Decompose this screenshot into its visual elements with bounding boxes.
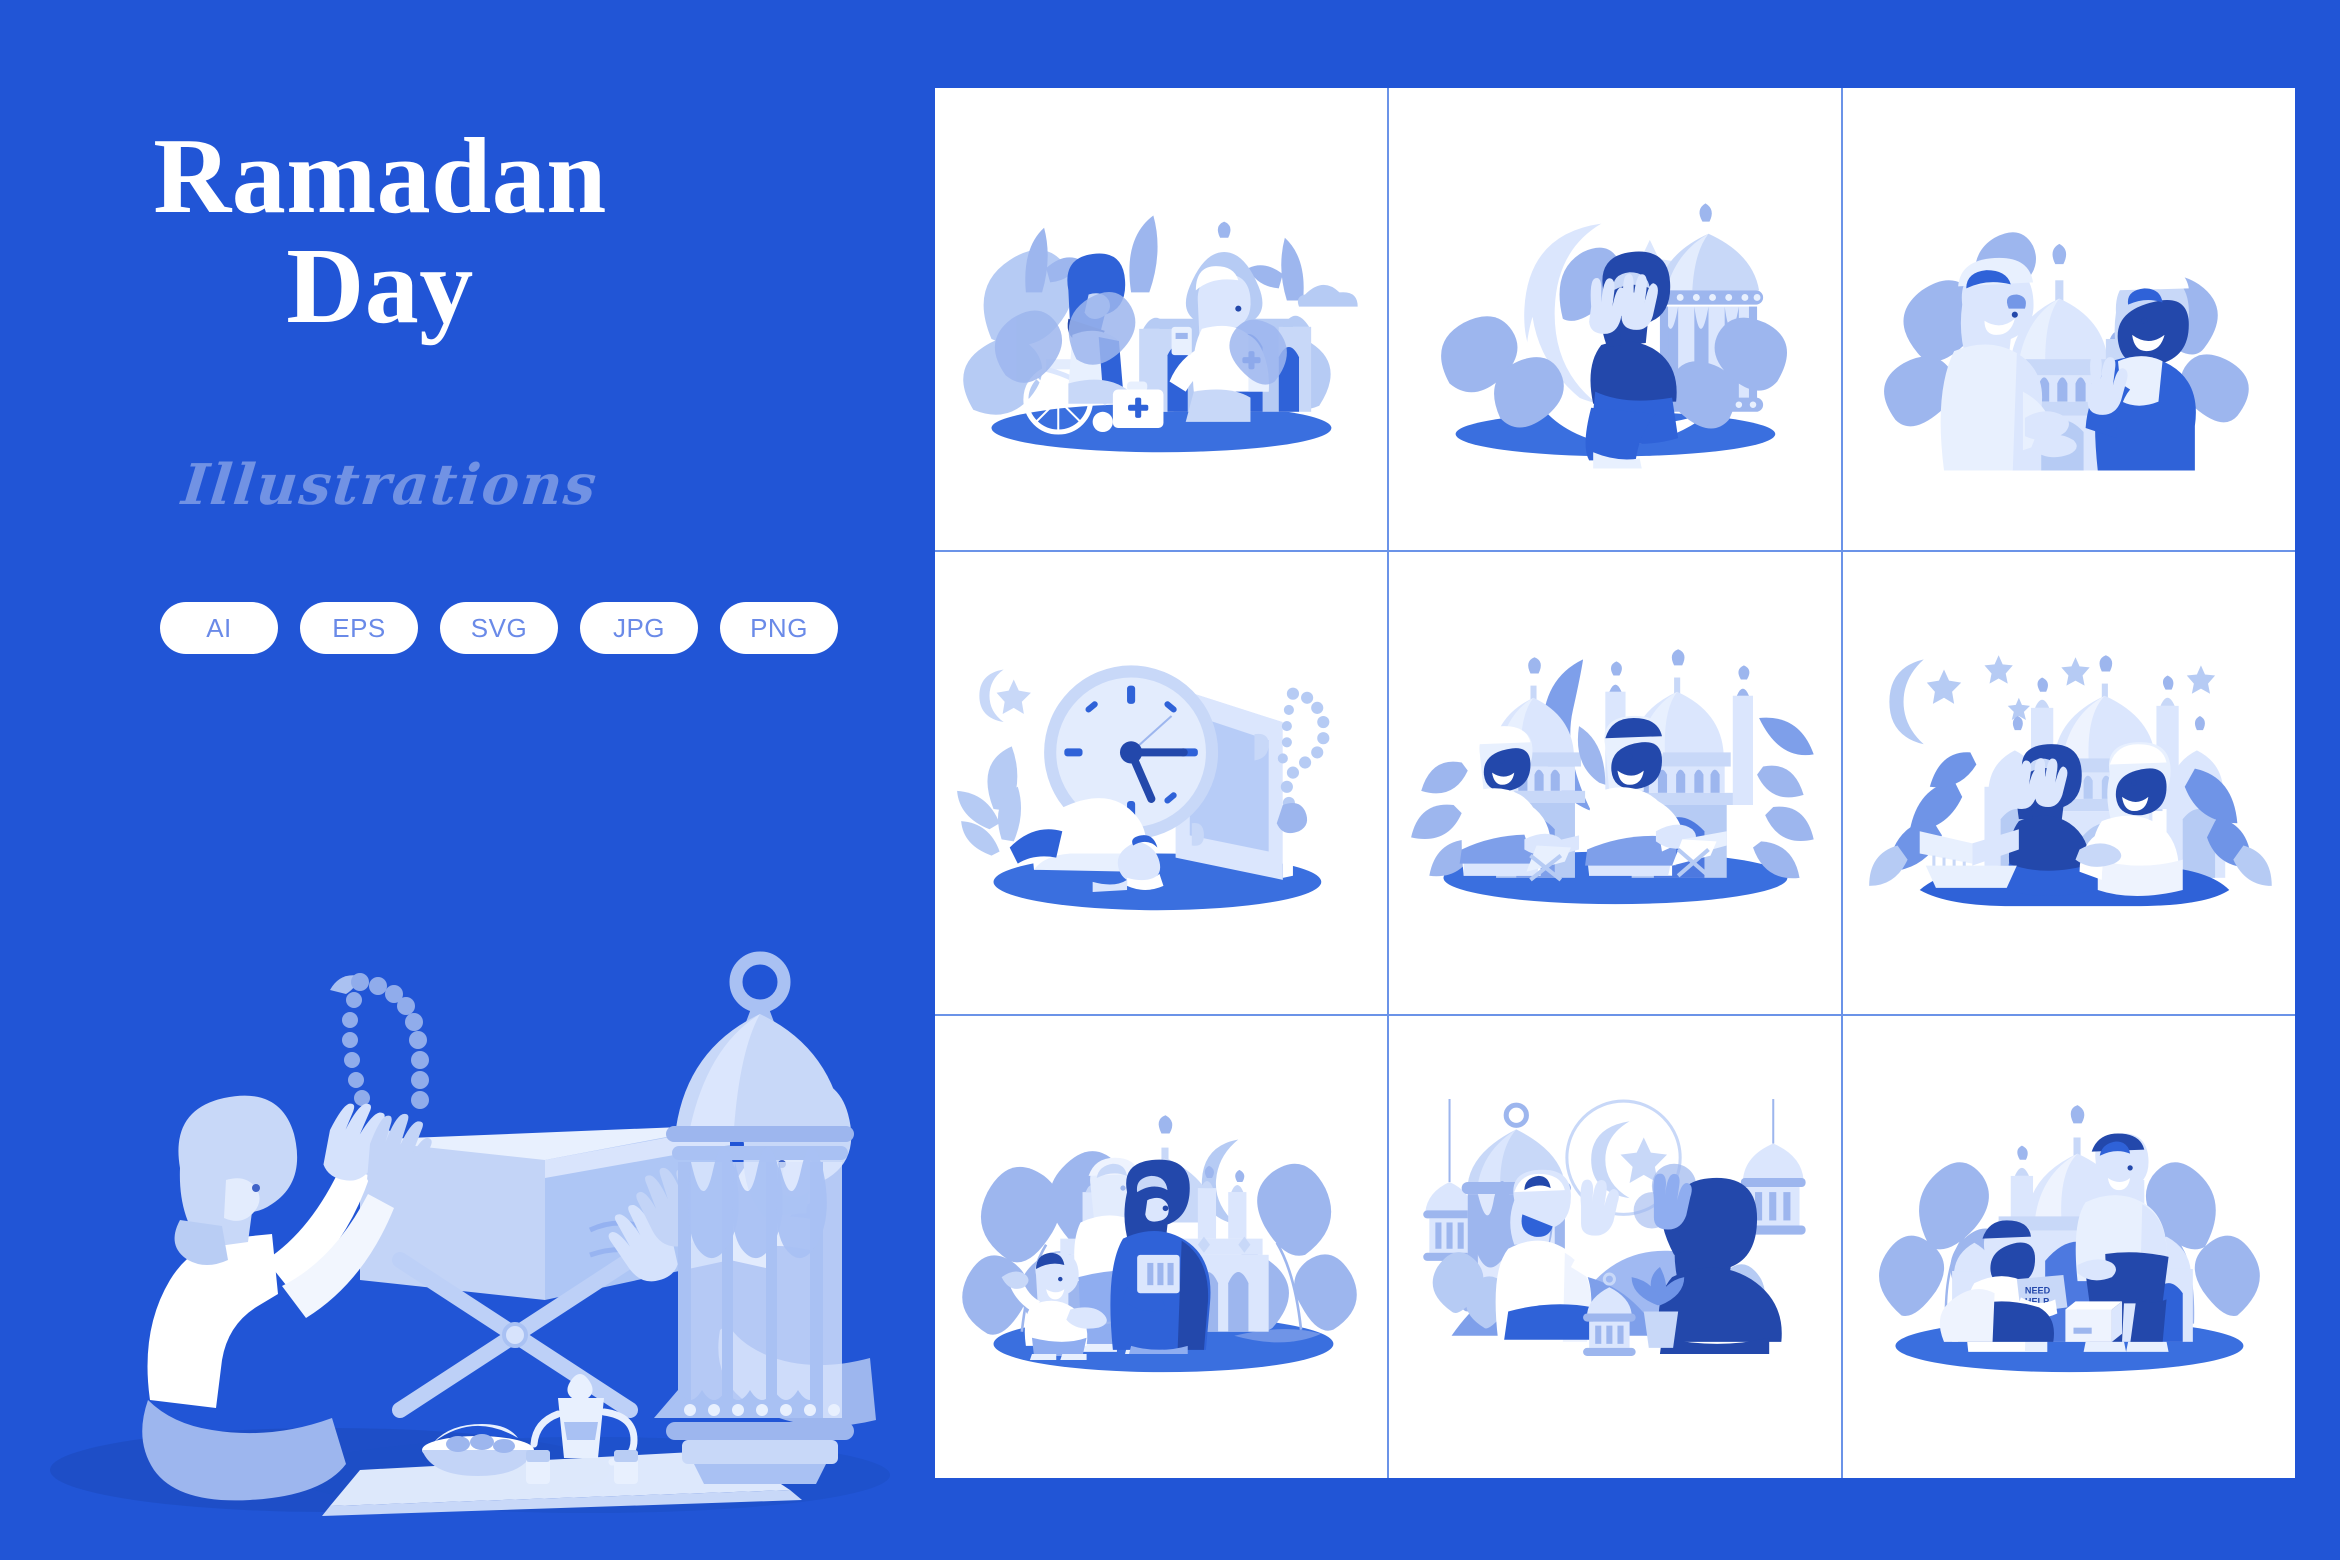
eid-greeting-illustration — [1857, 167, 2282, 470]
grid-cell-tarawih-prayer-lanterns[interactable] — [1389, 1016, 1841, 1478]
grid-cell-woman-praying-on-crescent[interactable] — [1389, 88, 1841, 550]
leaves — [957, 747, 1021, 856]
family-going-to-mosque-illustration — [949, 1095, 1374, 1398]
charity-medical-aid-illustration — [949, 167, 1374, 470]
men-reading-quran-illustration — [1403, 631, 1828, 934]
grid-cell-couple-praying-night[interactable] — [1843, 552, 2295, 1014]
poster-root: Ramadan Day Illustrations AI EPS SVG JPG… — [0, 0, 2340, 1560]
crescent-and-star-icon — [979, 670, 1031, 723]
grid-cell-prayer-time-clock[interactable] — [935, 552, 1387, 1014]
donation-box — [2065, 1302, 2122, 1342]
crescent-moon-icon — [1889, 660, 1923, 745]
left-panel: Ramadan Day Illustrations AI EPS SVG JPG… — [0, 0, 935, 1560]
badge-jpg[interactable]: JPG — [580, 602, 698, 654]
prayer-beads — [330, 973, 429, 1109]
illustration-grid: NEED HELP — [935, 88, 2295, 1478]
couple-praying-night-illustration — [1857, 631, 2282, 934]
grid-cell-men-reading-quran-mosque[interactable] — [1389, 552, 1841, 1014]
title-line-2: Day — [0, 232, 760, 342]
badge-png[interactable]: PNG — [720, 602, 838, 654]
page-subtitle: Illustrations — [0, 452, 783, 518]
grid-cell-charity-medical-aid[interactable] — [935, 88, 1387, 550]
ornate-lantern — [654, 958, 854, 1484]
page-title: Ramadan Day — [0, 122, 760, 342]
star-icon-5 — [2186, 666, 2214, 694]
tarawih-prayer-illustration — [1403, 1095, 1828, 1398]
grid-cell-eid-greeting-two-men[interactable] — [1843, 88, 2295, 550]
star-icon-3 — [2061, 658, 2089, 686]
woman-hijab-praying — [1585, 252, 1678, 469]
title-line-1: Ramadan — [0, 122, 760, 232]
prayer-time-clock-illustration — [949, 631, 1374, 934]
grid-cell-family-going-to-mosque[interactable] — [935, 1016, 1387, 1478]
prayer-beads — [1276, 688, 1329, 833]
star-icon-2 — [1984, 656, 2012, 684]
woman-praying-on-crescent-illustration — [1403, 167, 1828, 470]
format-badge-list: AI EPS SVG JPG PNG — [160, 602, 838, 654]
grid-cell-zakat-giving-to-needy[interactable]: NEED HELP — [1843, 1016, 2295, 1478]
svg-text:NEED: NEED — [2024, 1286, 2050, 1296]
star-icon-1 — [1926, 670, 1960, 704]
hero-illustration — [30, 930, 910, 1530]
badge-svg[interactable]: SVG — [440, 602, 558, 654]
zakat-giving-illustration: NEED HELP — [1857, 1095, 2282, 1398]
badge-ai[interactable]: AI — [160, 602, 278, 654]
badge-eps[interactable]: EPS — [300, 602, 418, 654]
